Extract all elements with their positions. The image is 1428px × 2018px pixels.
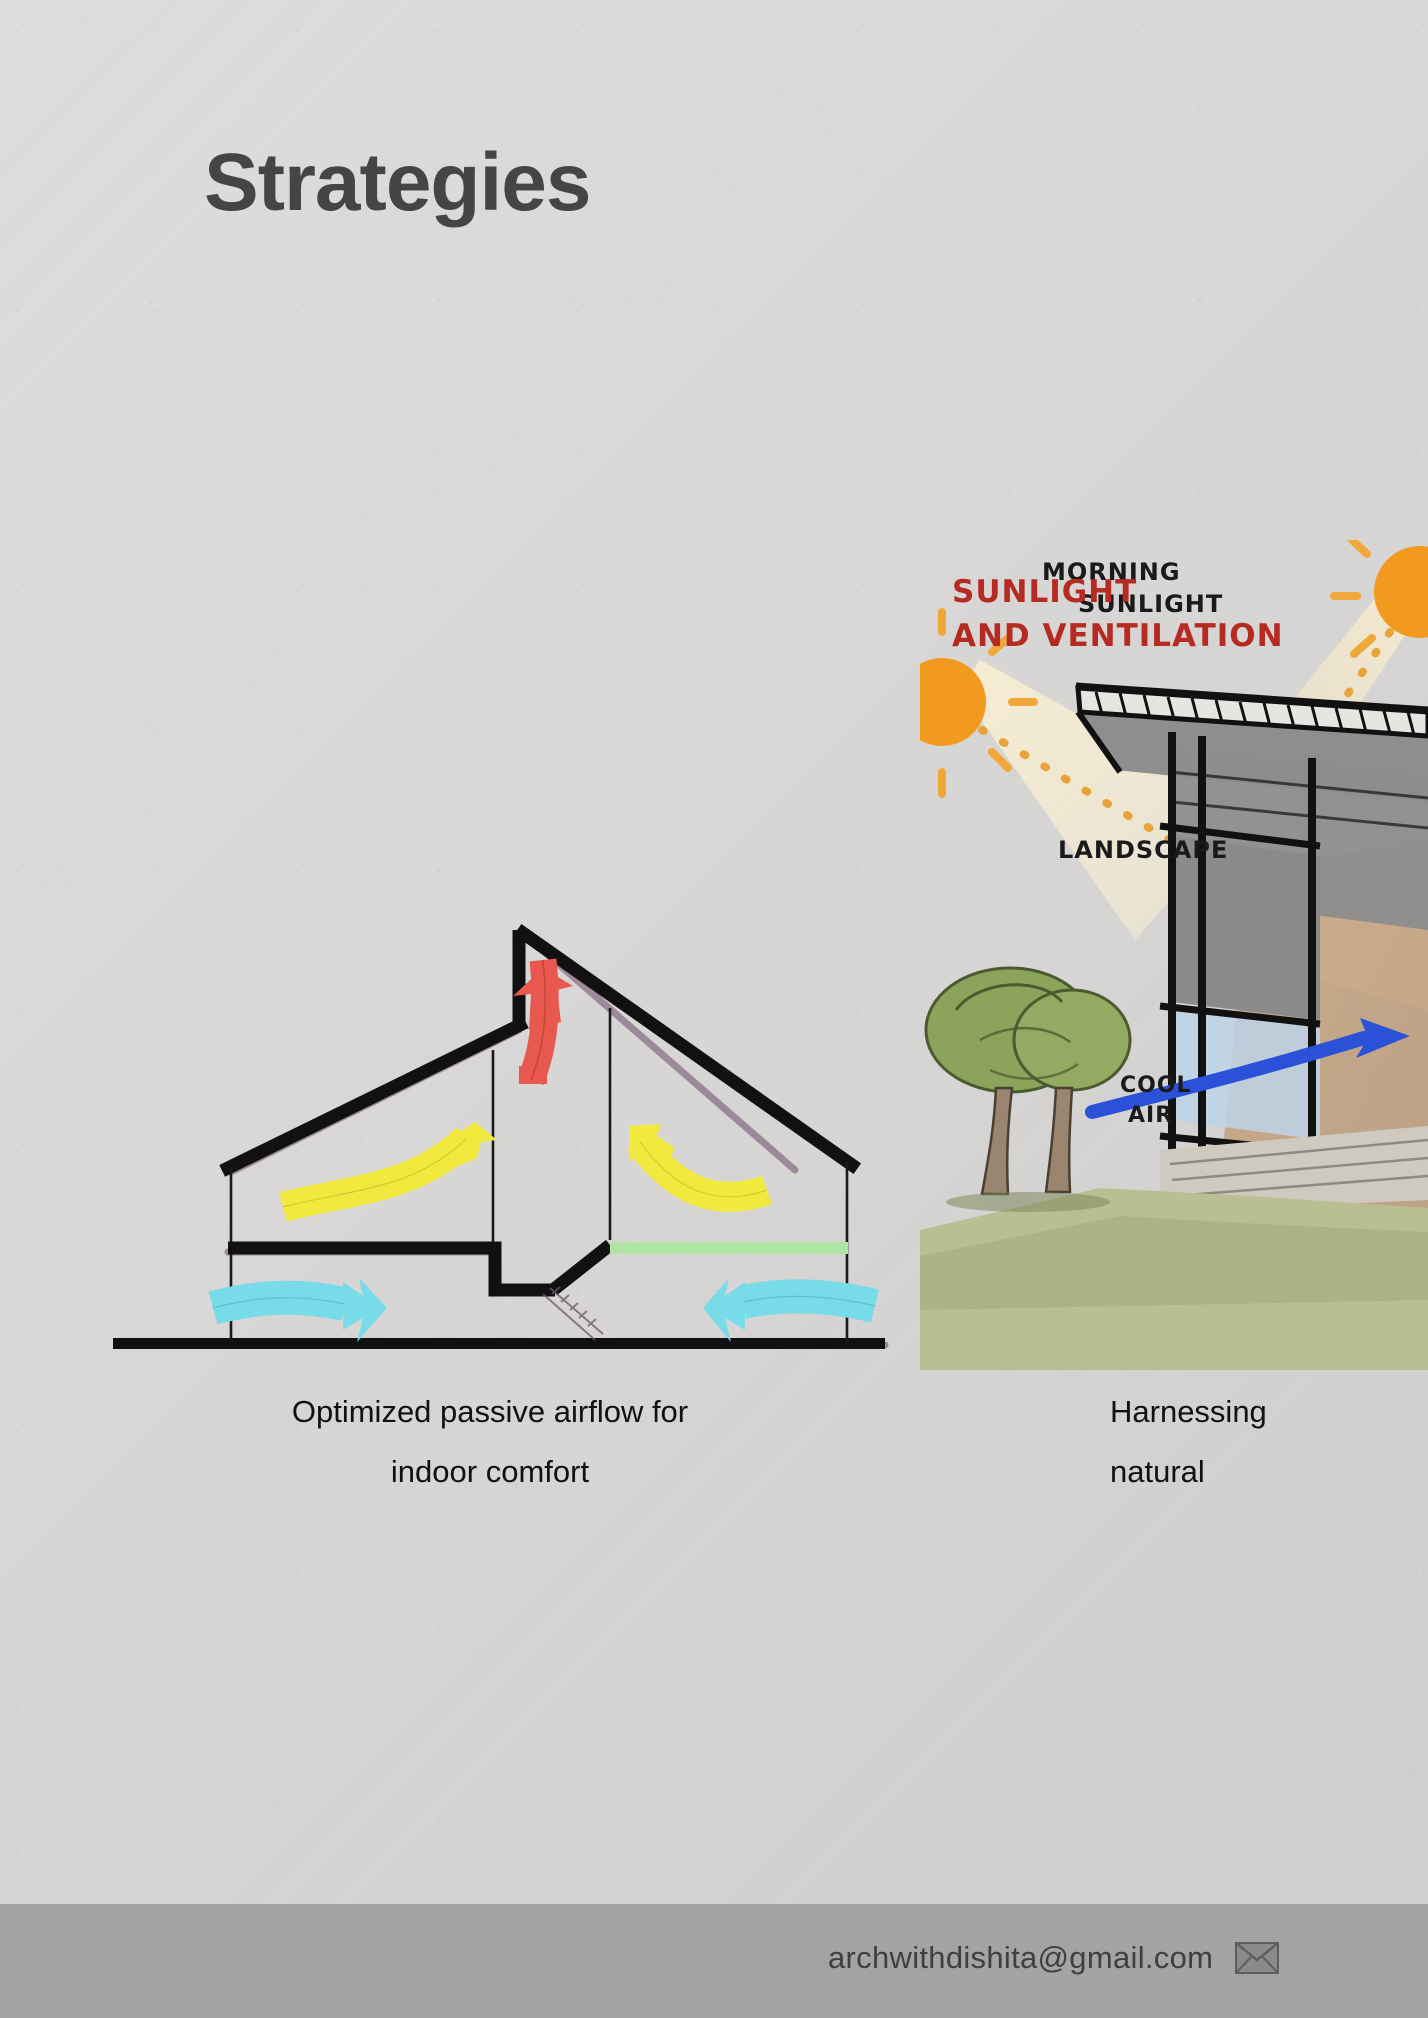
- tree-cluster: [926, 968, 1130, 1212]
- sketch-heading-line1: SUNLIGHT: [952, 574, 1137, 610]
- arrow-cool-air-right: [703, 1278, 875, 1342]
- green-slab: [610, 1242, 848, 1254]
- caption-passive-airflow: Optimized passive airflow for indoor com…: [120, 1382, 860, 1503]
- diagram-sunlight-ventilation: MORNING SUNLIGHT LANDSCAPE COOL AIR: [920, 540, 1428, 1370]
- arrow-cool-air-left: [213, 1278, 387, 1342]
- footer-bar: archwithdishita@gmail.com: [0, 1904, 1428, 2018]
- tree-trunk-right: [1046, 1088, 1072, 1192]
- page-title: Strategies: [204, 142, 591, 224]
- ground-line: [113, 1338, 885, 1349]
- diagram-passive-airflow: [95, 890, 925, 1370]
- sketch-heading-line2: AND VENTILATION: [952, 618, 1284, 654]
- footer-email[interactable]: archwithdishita@gmail.com: [828, 1940, 1213, 1976]
- stair-soffit: [553, 1245, 610, 1290]
- envelope-icon: [1235, 1942, 1279, 1974]
- footer-contact-group: archwithdishita@gmail.com: [828, 1940, 1279, 1976]
- label-cool-air-line1: COOL: [1120, 1073, 1192, 1098]
- label-cool-air-line2: AIR: [1128, 1103, 1173, 1128]
- caption-sunlight-ventilation: Harnessing natural: [1110, 1382, 1428, 1503]
- roof-main-slope: [523, 933, 852, 1165]
- arrow-warm-air-left: [283, 1122, 497, 1207]
- label-landscape: LANDSCAPE: [1058, 836, 1228, 864]
- sketch-heading-sunlight-ventilation: SUNLIGHT AND VENTILATION: [950, 570, 1310, 662]
- tree-trunk-left: [982, 1088, 1012, 1194]
- arrow-warm-air-right: [629, 1124, 767, 1197]
- slide-canvas: Strategies: [0, 0, 1428, 2018]
